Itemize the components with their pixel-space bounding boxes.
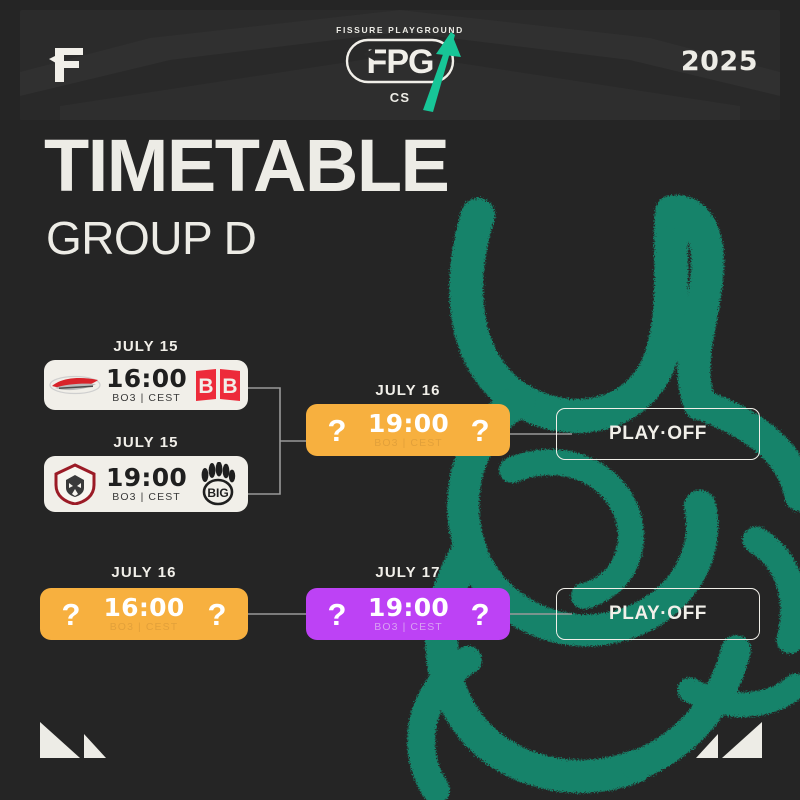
tbd-placeholder-label: ?	[208, 599, 227, 630]
team-logo-big-paw: BIG	[187, 462, 249, 506]
tbd-slot-right-3: ?	[449, 415, 511, 446]
match-info-2: 19:00 BO3 | CEST	[106, 465, 187, 504]
match-time-4: 16:00	[102, 595, 186, 621]
match-info-1: 16:00 BO3 | CEST	[106, 366, 187, 405]
tbd-placeholder-label: ?	[62, 599, 81, 630]
match-date-3: JULY 16	[306, 382, 510, 399]
match-info-3: 19:00 BO3 | CEST	[368, 411, 449, 450]
match-card-2[interactable]: 19:00 BO3 | CEST BIG	[44, 456, 248, 512]
playoff-box-upper[interactable]: PLAY·OFF	[556, 408, 760, 460]
tbd-placeholder-label: ?	[328, 599, 347, 630]
bracket: JULY 15 16:00 BO3 | CEST B B	[0, 0, 800, 800]
match-date-1: JULY 15	[44, 338, 248, 355]
match-format-4: BO3 | CEST	[102, 621, 186, 633]
playoff-box-lower[interactable]: PLAY·OFF	[556, 588, 760, 640]
match-card-3[interactable]: ? 19:00 BO3 | CEST ?	[306, 404, 510, 456]
match-info-4: 16:00 BO3 | CEST	[102, 595, 186, 634]
team-logo-red-stripe	[44, 373, 106, 397]
match-time-3: 19:00	[368, 411, 449, 437]
timetable-poster: FISSURE PLAYGROUND FPG CS 2025 TIMETABLE…	[0, 0, 800, 800]
svg-text:B: B	[222, 375, 237, 398]
tbd-slot-right-4: ?	[186, 599, 248, 630]
match-format-5: BO3 | CEST	[368, 621, 449, 633]
tbd-slot-left-3: ?	[306, 415, 368, 446]
team-logo-bb: B B	[187, 368, 249, 402]
match-time-1: 16:00	[106, 366, 187, 392]
svg-text:BIG: BIG	[207, 486, 228, 500]
tbd-slot-right-5: ?	[449, 599, 511, 630]
match-date-5: JULY 17	[306, 564, 510, 581]
double-triangle-left-ornament	[36, 716, 108, 762]
team-logo-crest	[44, 463, 106, 505]
tbd-slot-left-5: ?	[306, 599, 368, 630]
match-format-1: BO3 | CEST	[106, 392, 187, 404]
match-card-1[interactable]: 16:00 BO3 | CEST B B	[44, 360, 248, 410]
tbd-placeholder-label: ?	[328, 415, 347, 446]
tbd-placeholder-label: ?	[471, 415, 490, 446]
match-time-5: 19:00	[368, 595, 449, 621]
match-date-2: JULY 15	[44, 434, 248, 451]
match-time-2: 19:00	[106, 465, 187, 491]
match-date-4: JULY 16	[40, 564, 248, 581]
playoff-label: PLAY·OFF	[609, 603, 707, 625]
match-format-3: BO3 | CEST	[368, 437, 449, 449]
tbd-slot-left-4: ?	[40, 599, 102, 630]
match-format-2: BO3 | CEST	[106, 491, 187, 503]
match-info-5: 19:00 BO3 | CEST	[368, 595, 449, 634]
match-card-4[interactable]: ? 16:00 BO3 | CEST ?	[40, 588, 248, 640]
double-triangle-right-ornament	[694, 716, 766, 762]
playoff-label: PLAY·OFF	[609, 423, 707, 445]
tbd-placeholder-label: ?	[471, 599, 490, 630]
match-card-5[interactable]: ? 19:00 BO3 | CEST ?	[306, 588, 510, 640]
svg-text:B: B	[198, 375, 213, 398]
